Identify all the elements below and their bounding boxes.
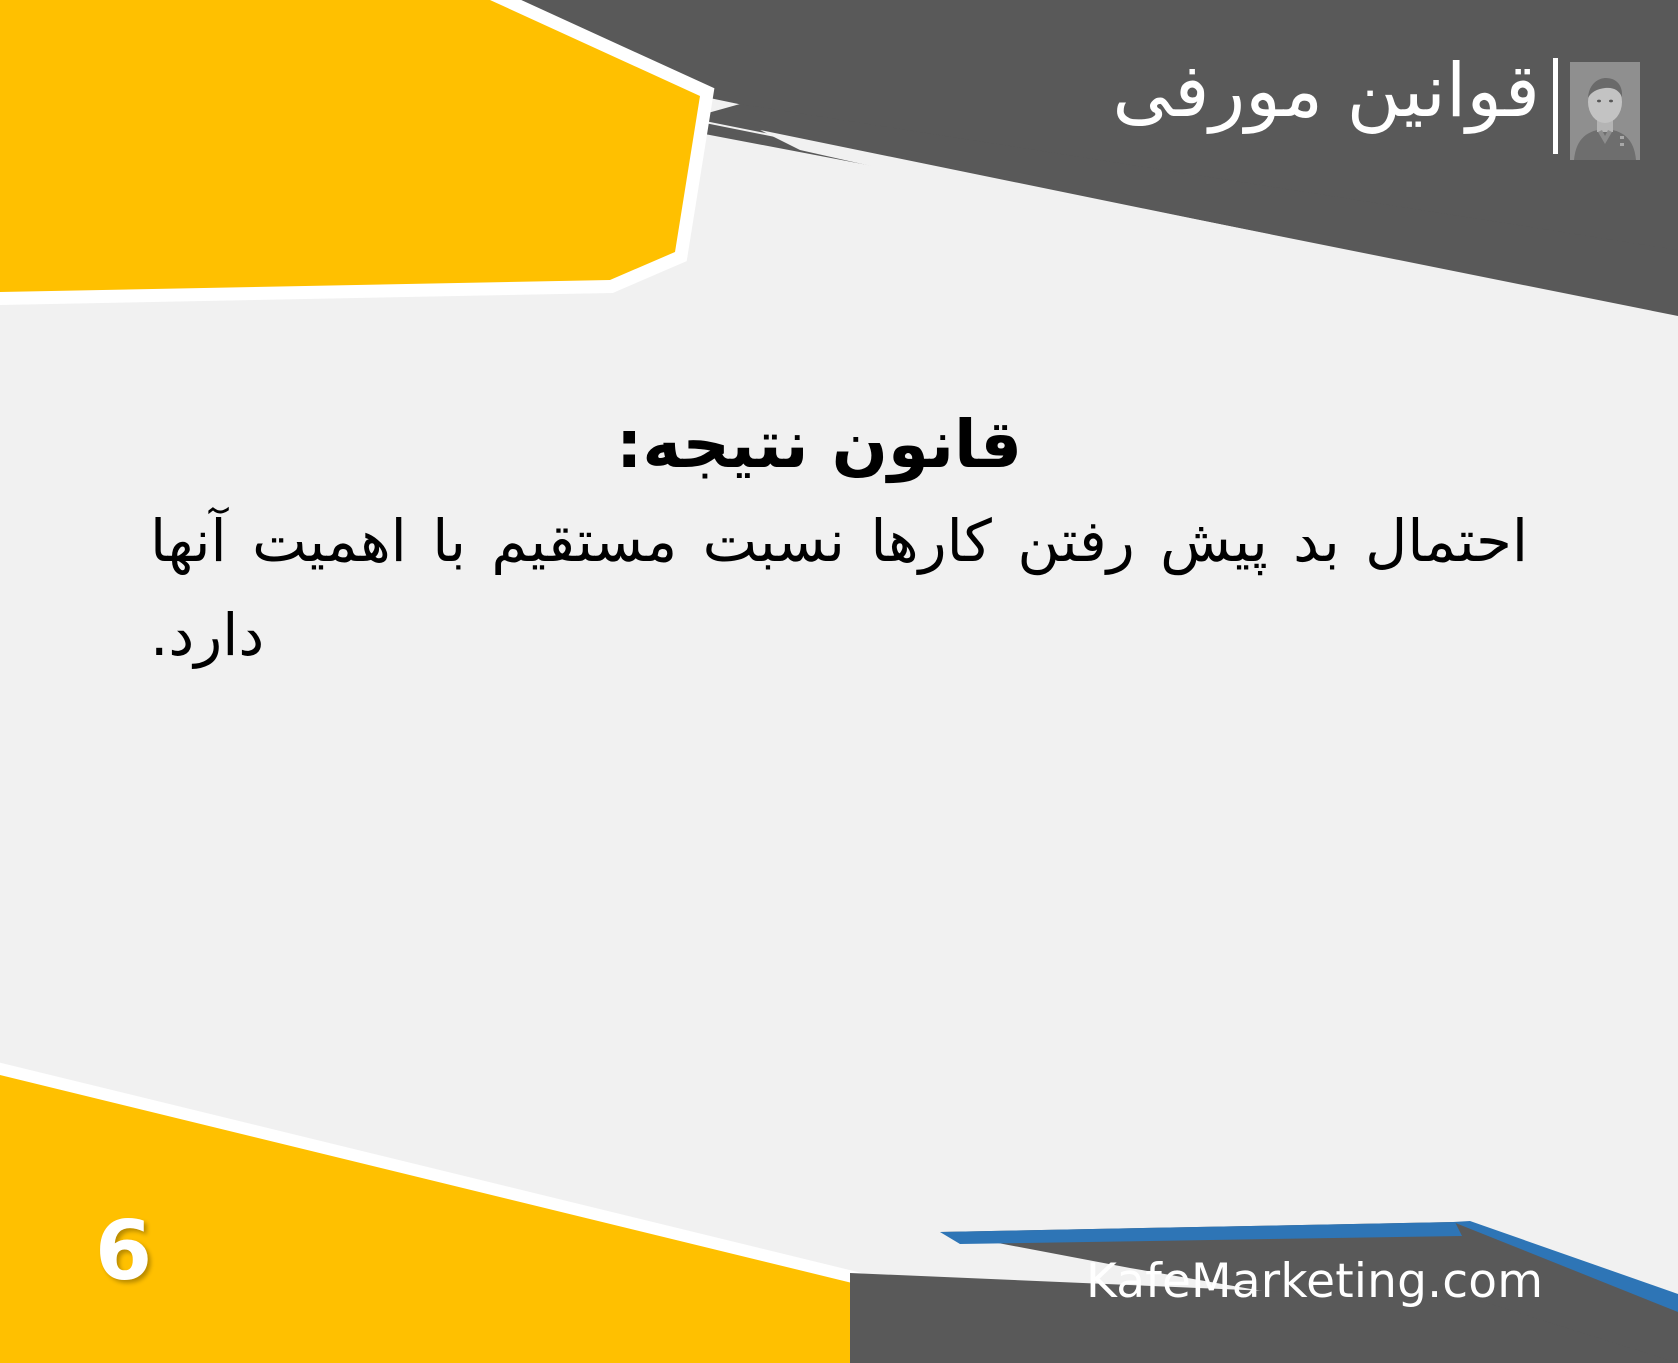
portrait-icon	[1570, 62, 1640, 160]
law-body-text: احتمال بد پیش رفتن کارها نسبت مستقیم با …	[150, 495, 1528, 683]
page-number: 6	[95, 1211, 152, 1293]
slide: قوانین مورفی قانون نتیجه: احتمال بد پیش	[0, 0, 1678, 1363]
law-heading: قانون نتیجه:	[150, 400, 1528, 489]
avatar	[1570, 62, 1640, 160]
slide-content: قانون نتیجه: احتمال بد پیش رفتن کارها نس…	[150, 400, 1528, 683]
header-divider	[1553, 58, 1558, 154]
page-title: قوانین مورفی	[840, 52, 1540, 130]
site-brand: KafeMarketing.com	[1086, 1258, 1543, 1305]
